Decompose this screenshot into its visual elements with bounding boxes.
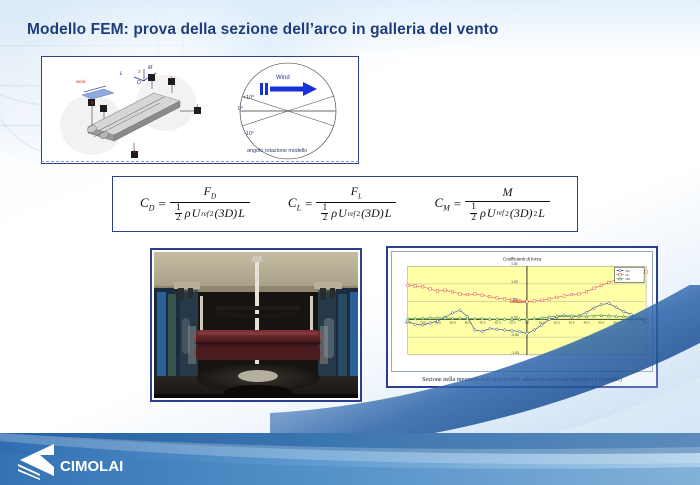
formula-cd-tail: L (238, 206, 245, 221)
formula-cd-u-sup: 2 (210, 209, 214, 218)
chart-title: Coefficienti di forza (503, 256, 542, 261)
formula-cm-paren-sup: 2 (534, 209, 538, 218)
slide-footer: CIMOLAI (0, 433, 700, 485)
chart-marker (619, 273, 622, 276)
formula-cm-half-top: 1 (471, 203, 476, 213)
panel-dashed-extension (41, 161, 359, 162)
rotation-angle-wheel-diagram: Wind +10° 0° -10° angolo rotazione model… (220, 59, 356, 163)
cimolai-wordmark: CIMOLAI (60, 458, 123, 475)
equals-sign: = (305, 196, 312, 212)
formula-cl-u-sup: 2 (356, 209, 360, 218)
formula-cd-half-bottom: 2 (176, 214, 181, 224)
formula-drag-coefficient: CD = FD 12 ρUref2(3D)L (140, 184, 250, 224)
cimolai-logo: CIMOLAI (14, 440, 142, 480)
page-title: Modello FEM: prova della sezione dell’ar… (27, 21, 499, 39)
axis-label-D: D (137, 80, 141, 86)
formula-cl-half-bottom: 2 (322, 214, 327, 224)
formula-cm-rho: ρ (480, 206, 486, 221)
formula-cd-symbol: C (140, 195, 149, 210)
cimolai-mark-icon (18, 444, 54, 480)
axis-label-L: L (120, 71, 123, 77)
chart-marker (608, 281, 611, 284)
formula-cl-symbol: C (288, 195, 297, 210)
chart-ytick-label: 1.00 (511, 280, 518, 284)
equals-sign: = (158, 196, 165, 212)
sensor-label-1: 1 (196, 103, 199, 108)
diagram-panel: 1 2 3 4 5 L M D wind Wind +10° 0° -10° a… (41, 56, 359, 164)
formula-cm-u-sup: 2 (505, 209, 509, 218)
formula-cm-subscript: M (443, 204, 450, 213)
formula-moment-coefficient: CM = M 12 ρUref2(3D)2L (434, 185, 550, 223)
formula-cl-u-sub: ref (348, 210, 356, 218)
sensor-label-5: 5 (91, 100, 94, 105)
chart-marker (645, 271, 648, 274)
formula-cm-u-sub: ref (497, 209, 505, 217)
formula-cm-numerator: M (503, 185, 513, 199)
formula-cd-subscript: D (149, 204, 155, 213)
formula-cd-numerator-sub: D (211, 193, 216, 201)
formula-cl-u: U (338, 206, 347, 221)
sensor-label-3: 3 (138, 69, 141, 74)
formula-panel: CD = FD 12 ρUref2(3D)L CL = FL 12 ρUref2… (112, 176, 578, 232)
sensor-label-2: 2 (170, 75, 173, 80)
sectional-model-3d-diagram (48, 59, 218, 163)
formula-cl-tail: L (385, 206, 392, 221)
formula-cl-subscript: L (297, 204, 301, 213)
formula-cd-numerator: F (204, 184, 211, 198)
wheel-caption: angolo rotazione modello (247, 148, 307, 154)
formula-cl-paren: (3D) (361, 206, 384, 221)
formula-cl-rho: ρ (331, 206, 337, 221)
formula-cd-u-sub: ref (201, 210, 209, 218)
angle-label-zero: 0° (238, 106, 243, 112)
wind-label: Wind (276, 75, 290, 81)
chart-ytick-label: 1.50 (511, 262, 518, 266)
chart-legend-label: CM (625, 277, 630, 281)
axis-label-M: M (148, 65, 152, 71)
formula-lift-coefficient: CL = FL 12 ρUref2(3D)L (288, 184, 397, 224)
equals-sign: = (454, 196, 461, 212)
formula-cl-half-top: 1 (322, 204, 327, 214)
wind-plane-label: wind (76, 79, 85, 84)
formula-cl-numerator: F (351, 184, 358, 198)
formula-cm-u: U (487, 206, 496, 221)
formula-cd-half-top: 1 (176, 204, 181, 214)
formula-cl-numerator-sub: L (358, 193, 362, 201)
formula-cm-tail: L (538, 206, 545, 221)
formula-cd-paren: (3D) (215, 206, 238, 221)
angle-label-plus10: +10° (243, 95, 254, 101)
chart-legend: CDCLCM (615, 267, 645, 282)
formula-cm-paren: (3D) (510, 206, 533, 221)
formula-cd-u: U (192, 206, 201, 221)
sensor-label-4: 4 (133, 149, 136, 154)
formula-cm-half-bottom: 2 (471, 214, 476, 224)
formula-cm-symbol: C (434, 195, 443, 210)
angle-label-minus10: -10° (244, 131, 254, 137)
formula-cd-rho: ρ (185, 206, 191, 221)
slide-canvas: Modello FEM: prova della sezione dell’ar… (0, 0, 700, 485)
